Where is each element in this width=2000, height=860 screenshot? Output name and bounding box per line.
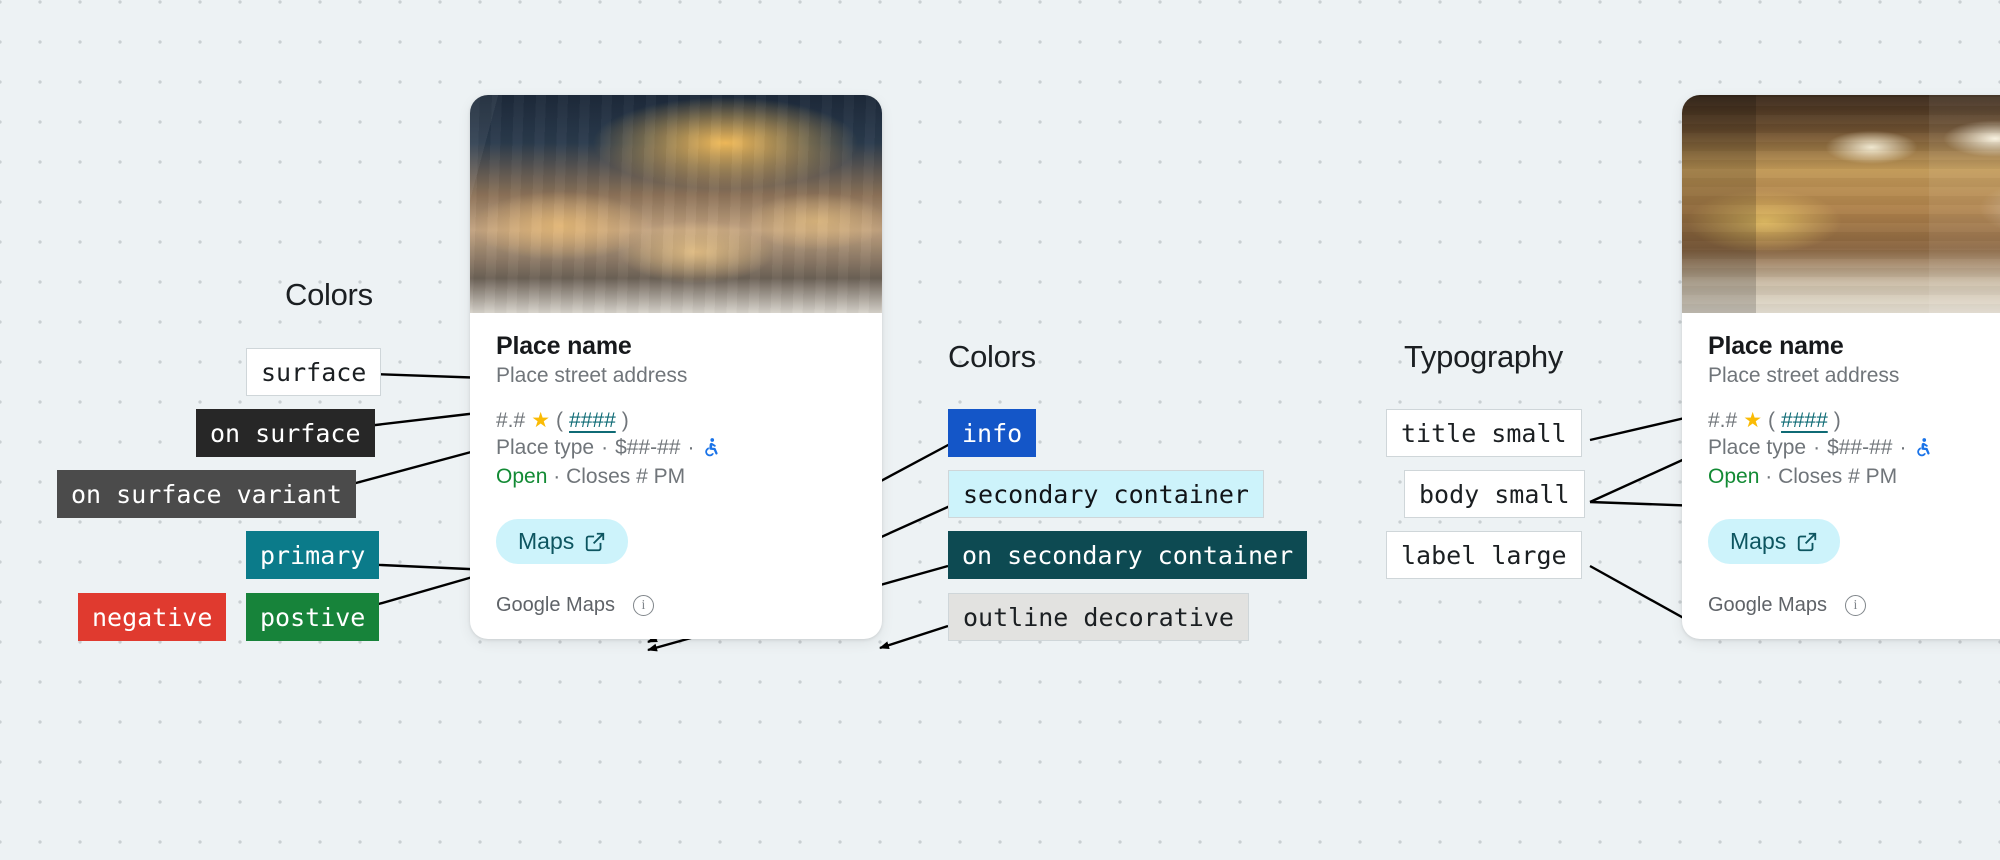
place-hours-row: Open · Closes # PM bbox=[1708, 462, 2000, 491]
section-title-colors-left: Colors bbox=[285, 277, 373, 313]
color-chip-label: on secondary container bbox=[962, 543, 1293, 568]
closing-time: Closes # PM bbox=[1778, 465, 1897, 488]
dot-sep-3: · bbox=[1765, 465, 1772, 488]
star-icon: ★ bbox=[531, 410, 550, 431]
review-count-link[interactable]: #### bbox=[1781, 409, 1828, 433]
color-chip-label: secondary container bbox=[963, 482, 1249, 507]
color-chip-label: info bbox=[962, 421, 1022, 446]
color-chip-positive[interactable]: postive bbox=[246, 593, 379, 641]
place-type: Place type bbox=[496, 433, 594, 462]
rating-row: #.# ★ (####) bbox=[1708, 409, 2000, 433]
color-chip-label: negative bbox=[92, 605, 212, 630]
color-chip-label: outline decorative bbox=[963, 605, 1234, 630]
place-meta-row: Place type · $##-## · bbox=[1708, 433, 2000, 462]
type-chip-body-small[interactable]: body small bbox=[1404, 470, 1585, 518]
maps-button-label: Maps bbox=[1730, 528, 1786, 555]
place-name: Place name bbox=[496, 331, 856, 362]
info-icon[interactable]: i bbox=[633, 595, 654, 616]
open-status: Open bbox=[496, 465, 547, 488]
card-footer: Google Maps i bbox=[470, 594, 882, 639]
place-hours-row: Open · Closes # PM bbox=[496, 462, 856, 491]
type-chip-label: title small bbox=[1401, 421, 1567, 446]
maps-button-label: Maps bbox=[518, 528, 574, 555]
review-count-link[interactable]: #### bbox=[569, 409, 616, 433]
closing-time: Closes # PM bbox=[566, 465, 685, 488]
price-range: $##-## bbox=[615, 433, 680, 462]
rating-value: #.# bbox=[1708, 409, 1737, 433]
wheelchair-icon bbox=[701, 437, 721, 457]
paren-close: ) bbox=[1834, 409, 1841, 433]
place-meta-row: Place type · $##-## · bbox=[496, 433, 856, 462]
type-chip-label-large[interactable]: label large bbox=[1386, 531, 1582, 579]
paren-open: ( bbox=[1768, 409, 1775, 433]
dot-sep-2: · bbox=[1899, 433, 1906, 462]
place-card-typography[interactable]: Place name Place street address #.# ★ (#… bbox=[1682, 95, 2000, 639]
open-status: Open bbox=[1708, 465, 1759, 488]
color-chip-label: on surface variant bbox=[71, 482, 342, 507]
dot-sep-2: · bbox=[687, 433, 694, 462]
open-in-new-icon bbox=[1796, 531, 1818, 553]
maps-button[interactable]: Maps bbox=[496, 519, 628, 564]
type-chip-label: body small bbox=[1419, 482, 1570, 507]
dot-sep-1: · bbox=[601, 433, 608, 462]
type-chip-label: label large bbox=[1401, 543, 1567, 568]
color-chip-secondary-container[interactable]: secondary container bbox=[948, 470, 1264, 518]
color-chip-info[interactable]: info bbox=[948, 409, 1036, 457]
color-chip-negative[interactable]: negative bbox=[78, 593, 226, 641]
price-range: $##-## bbox=[1827, 433, 1892, 462]
color-chip-surface[interactable]: surface bbox=[246, 348, 381, 396]
place-photo-cafe bbox=[1682, 95, 2000, 313]
place-card-colors[interactable]: Place name Place street address #.# ★ (#… bbox=[470, 95, 882, 639]
color-chip-label: primary bbox=[260, 543, 365, 568]
rating-row: #.# ★ (####) bbox=[496, 409, 856, 433]
color-chip-primary[interactable]: primary bbox=[246, 531, 379, 579]
open-in-new-icon bbox=[584, 531, 606, 553]
rating-value: #.# bbox=[496, 409, 525, 433]
card-footer: Google Maps i bbox=[1682, 594, 2000, 639]
paren-open: ( bbox=[556, 409, 563, 433]
maps-button[interactable]: Maps bbox=[1708, 519, 1840, 564]
place-address: Place street address bbox=[496, 362, 856, 390]
dot-sep-3: · bbox=[553, 465, 560, 488]
section-title-typography: Typography bbox=[1404, 339, 1563, 375]
place-address: Place street address bbox=[1708, 362, 2000, 390]
place-type: Place type bbox=[1708, 433, 1806, 462]
color-chip-outline-decorative[interactable]: outline decorative bbox=[948, 593, 1249, 641]
color-chip-label: surface bbox=[261, 360, 366, 385]
color-chip-on-surface-variant[interactable]: on surface variant bbox=[57, 470, 356, 518]
wheelchair-icon bbox=[1913, 437, 1933, 457]
type-chip-title-small[interactable]: title small bbox=[1386, 409, 1582, 457]
google-maps-label: Google Maps bbox=[496, 594, 615, 617]
star-icon: ★ bbox=[1743, 410, 1762, 431]
place-photo-bakery bbox=[470, 95, 882, 313]
dot-sep-1: · bbox=[1813, 433, 1820, 462]
paren-close: ) bbox=[622, 409, 629, 433]
color-chip-label: on surface bbox=[210, 421, 361, 446]
color-chip-label: postive bbox=[260, 605, 365, 630]
google-maps-label: Google Maps bbox=[1708, 594, 1827, 617]
color-chip-on-surface[interactable]: on surface bbox=[196, 409, 375, 457]
info-icon[interactable]: i bbox=[1845, 595, 1866, 616]
color-chip-on-secondary-container[interactable]: on secondary container bbox=[948, 531, 1307, 579]
place-name: Place name bbox=[1708, 331, 2000, 362]
section-title-colors-mid: Colors bbox=[948, 339, 1036, 375]
